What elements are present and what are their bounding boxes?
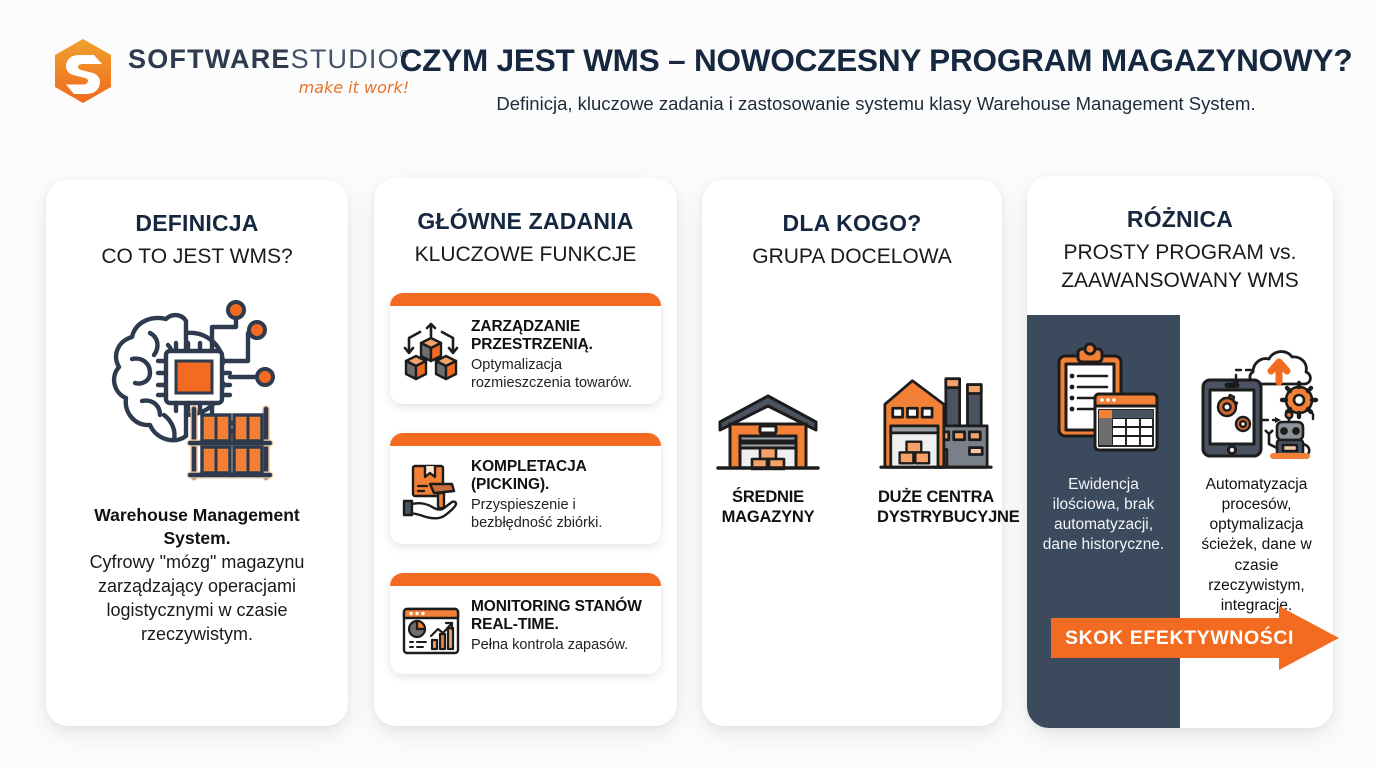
- card-heading: DLA KOGO?: [702, 210, 1002, 237]
- brand-logo[interactable]: SOFTWARESTUDIO® make it work!: [52, 38, 409, 104]
- card-subheading: CO TO JEST WMS?: [46, 243, 348, 271]
- feature-accent-bar: [390, 293, 661, 306]
- card-dla-kogo[interactable]: DLA KOGO? GRUPA DOCELOWA: [702, 180, 1002, 726]
- tablet-gears-cloud-robot-icon: [1180, 315, 1333, 475]
- clipboard-spreadsheet-icon: [1027, 315, 1180, 475]
- feature-accent-bar: [390, 433, 661, 446]
- title-block: CZYM JEST WMS – NOWOCZESNY PROGRAM MAGAZ…: [396, 42, 1356, 115]
- card-roznica[interactable]: RÓŻNICA PROSTY PROGRAM vs. ZAAWANSOWANY …: [1027, 176, 1333, 728]
- arrow-label: SKOK EFEKTYWNOŚCI: [1065, 625, 1294, 649]
- page-subtitle: Definicja, kluczowe zadania i zastosowan…: [396, 93, 1356, 115]
- definicja-body: Cyfrowy "mózg" magazynu zarządzający ope…: [64, 551, 330, 647]
- card-subheading: KLUCZOWE FUNKCJE: [374, 241, 677, 269]
- warehouse-building-icon: [709, 370, 827, 474]
- target-group-row: ŚREDNIE MAGAZYNY: [702, 370, 1002, 528]
- feature-tile[interactable]: ZARZĄDZANIE PRZESTRZENIĄ. Optymalizacja …: [390, 293, 661, 404]
- brand-name-bold: SOFTWARE: [128, 44, 291, 74]
- card-glowne-zadania[interactable]: GŁÓWNE ZADANIA KLUCZOWE FUNKCJE: [374, 178, 677, 726]
- right-arrow-banner-icon[interactable]: SKOK EFEKTYWNOŚCI: [1051, 606, 1339, 670]
- card-header: RÓŻNICA PROSTY PROGRAM vs. ZAAWANSOWANY …: [1027, 176, 1333, 296]
- card-heading: GŁÓWNE ZADANIA: [374, 208, 677, 235]
- definicja-strong: Warehouse Management System.: [64, 504, 330, 549]
- card-heading: DEFINICJA: [46, 210, 348, 237]
- feature-title: MONITORING STANÓW REAL-TIME.: [471, 598, 642, 633]
- feature-tile[interactable]: KOMPLETACJA (PICKING). Przyspieszenie i …: [390, 433, 661, 544]
- target-item[interactable]: DUŻE CENTRA DYSTRYBUCYJNE: [877, 370, 995, 528]
- card-header: DEFINICJA CO TO JEST WMS?: [46, 180, 348, 271]
- comparison-text-simple: Ewidencja ilościowa, brak automatyzacji,…: [1027, 475, 1180, 556]
- feature-accent-bar: [390, 573, 661, 586]
- feature-desc: Przyspieszenie i bezbłędność zbiórki.: [471, 497, 649, 532]
- feature-title: ZARZĄDZANIE PRZESTRZENIĄ.: [471, 318, 593, 353]
- target-label: ŚREDNIE MAGAZYNY: [709, 488, 827, 528]
- brand-tagline: make it work!: [128, 80, 409, 96]
- page-title: CZYM JEST WMS – NOWOCZESNY PROGRAM MAGAZ…: [396, 42, 1356, 79]
- feature-title: KOMPLETACJA (PICKING).: [471, 458, 586, 493]
- target-item[interactable]: ŚREDNIE MAGAZYNY: [709, 370, 827, 528]
- card-heading: RÓŻNICA: [1027, 206, 1333, 233]
- card-definicja-text: Warehouse Management System. Cyfrowy "mó…: [46, 504, 348, 647]
- factory-distribution-center-icon: [877, 370, 995, 474]
- page-header: SOFTWARESTUDIO® make it work! CZYM JEST …: [0, 0, 1376, 150]
- hand-box-barcode-scanner-icon: [400, 460, 462, 522]
- brand-name-light: STUDIO: [291, 44, 400, 74]
- stacked-cubes-arrows-icon: [400, 320, 462, 382]
- card-subheading: GRUPA DOCELOWA: [702, 243, 1002, 271]
- brand-logo-text: SOFTWARESTUDIO® make it work!: [128, 46, 409, 96]
- brand-name: SOFTWARESTUDIO®: [128, 46, 409, 73]
- dashboard-chart-window-icon: [400, 600, 462, 662]
- card-definicja[interactable]: DEFINICJA CO TO JEST WMS?: [46, 180, 348, 726]
- card-header: GŁÓWNE ZADANIA KLUCZOWE FUNKCJE: [374, 178, 677, 269]
- card-header: DLA KOGO? GRUPA DOCELOWA: [702, 180, 1002, 271]
- card-subheading: PROSTY PROGRAM vs. ZAAWANSOWANY WMS: [1027, 239, 1333, 296]
- feature-desc: Optymalizacja rozmieszczenia towarów.: [471, 357, 649, 392]
- brain-chip-warehouse-rack-icon: [46, 297, 348, 482]
- feature-tile[interactable]: MONITORING STANÓW REAL-TIME. Pełna kontr…: [390, 573, 661, 674]
- feature-desc: Pełna kontrola zapasów.: [471, 637, 649, 654]
- infographic-page: SOFTWARESTUDIO® make it work! CZYM JEST …: [0, 0, 1376, 768]
- target-label: DUŻE CENTRA DYSTRYBUCYJNE: [877, 488, 995, 528]
- comparison-text-advanced: Automatyzacja procesów, optymalizacja śc…: [1180, 475, 1333, 616]
- hexagon-s-logo-icon: [52, 38, 114, 104]
